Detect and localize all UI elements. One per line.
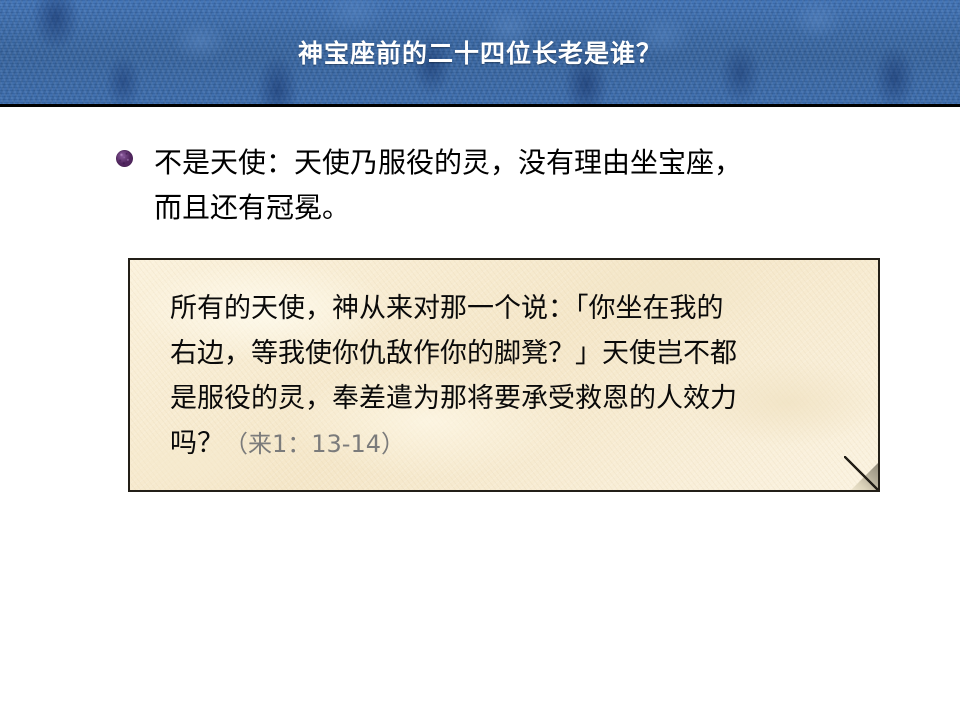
scripture-quote-box: 所有的天使，神从来对那一个说：「你坐在我的 右边，等我使你仇敌作你的脚凳？」天使… bbox=[128, 258, 880, 492]
slide-title-banner: 神宝座前的二十四位长老是谁？ bbox=[0, 0, 960, 107]
page-title: 神宝座前的二十四位长老是谁？ bbox=[298, 34, 662, 70]
bullet-list-item: 不是天使：天使乃服役的灵，没有理由坐宝座， 而且还有冠冕。 bbox=[116, 140, 906, 230]
scripture-citation: （来1：13-14） bbox=[224, 430, 405, 458]
purple-sphere-bullet-icon bbox=[116, 150, 133, 167]
bullet-item-label: 不是天使：天使乃服役的灵，没有理由坐宝座， 而且还有冠冕。 bbox=[154, 140, 906, 230]
quote-body: 所有的天使，神从来对那一个说：「你坐在我的 右边，等我使你仇敌作你的脚凳？」天使… bbox=[170, 286, 860, 467]
